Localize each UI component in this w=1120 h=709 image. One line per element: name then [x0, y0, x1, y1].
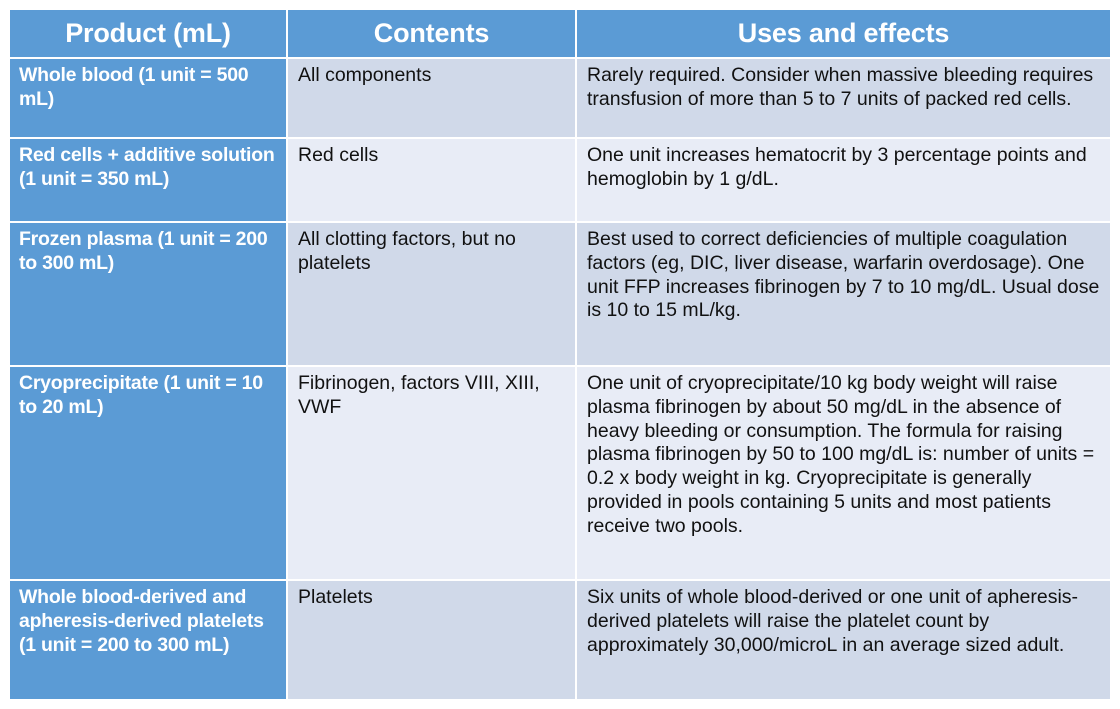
table-row: Whole blood (1 unit = 500 mL) All compon… — [10, 59, 1110, 139]
cell-contents: Fibrinogen, factors VIII, XIII, VWF — [288, 367, 577, 581]
uses-text: Best used to correct deficiencies of mul… — [587, 228, 1104, 323]
contents-text: Platelets — [298, 586, 568, 610]
uses-text: One unit increases hematocrit by 3 perce… — [587, 144, 1104, 192]
product-text: Whole blood (1 unit = 500 mL) — [19, 64, 282, 112]
product-text: Whole blood-derived and apheresis-derive… — [19, 586, 282, 657]
uses-text: One unit of cryoprecipitate/10 kg body w… — [587, 372, 1104, 538]
column-header-contents: Contents — [288, 10, 577, 59]
cell-contents: Red cells — [288, 139, 577, 223]
cell-uses: One unit of cryoprecipitate/10 kg body w… — [577, 367, 1110, 581]
cell-product: Red cells + additive solution (1 unit = … — [10, 139, 288, 223]
column-header-uses: Uses and effects — [577, 10, 1110, 59]
cell-contents: Platelets — [288, 581, 577, 699]
table-row: Red cells + additive solution (1 unit = … — [10, 139, 1110, 223]
cell-product: Cryoprecipitate (1 unit = 10 to 20 mL) — [10, 367, 288, 581]
contents-text: Fibrinogen, factors VIII, XIII, VWF — [298, 372, 568, 420]
table-row: Cryoprecipitate (1 unit = 10 to 20 mL) F… — [10, 367, 1110, 581]
table-row: Whole blood-derived and apheresis-derive… — [10, 581, 1110, 699]
cell-uses: Six units of whole blood-derived or one … — [577, 581, 1110, 699]
contents-text: Red cells — [298, 144, 568, 168]
contents-text: All components — [298, 64, 568, 88]
cell-uses: Rarely required. Consider when massive b… — [577, 59, 1110, 139]
cell-contents: All clotting factors, but no platelets — [288, 223, 577, 367]
blood-products-table: Product (mL) Contents Uses and effects W… — [10, 10, 1110, 699]
cell-product: Frozen plasma (1 unit = 200 to 300 mL) — [10, 223, 288, 367]
cell-contents: All components — [288, 59, 577, 139]
contents-text: All clotting factors, but no platelets — [298, 228, 568, 276]
cell-product: Whole blood-derived and apheresis-derive… — [10, 581, 288, 699]
uses-text: Rarely required. Consider when massive b… — [587, 64, 1104, 112]
uses-text: Six units of whole blood-derived or one … — [587, 586, 1104, 657]
cell-uses: Best used to correct deficiencies of mul… — [577, 223, 1110, 367]
column-header-product: Product (mL) — [10, 10, 288, 59]
product-text: Cryoprecipitate (1 unit = 10 to 20 mL) — [19, 372, 282, 420]
product-text: Red cells + additive solution (1 unit = … — [19, 144, 282, 192]
cell-product: Whole blood (1 unit = 500 mL) — [10, 59, 288, 139]
table-header: Product (mL) Contents Uses and effects — [10, 10, 1110, 59]
cell-uses: One unit increases hematocrit by 3 perce… — [577, 139, 1110, 223]
table-row: Frozen plasma (1 unit = 200 to 300 mL) A… — [10, 223, 1110, 367]
product-text: Frozen plasma (1 unit = 200 to 300 mL) — [19, 228, 282, 276]
table-body: Whole blood (1 unit = 500 mL) All compon… — [10, 59, 1110, 699]
blood-products-table-container: Product (mL) Contents Uses and effects W… — [10, 10, 1110, 699]
table-header-row: Product (mL) Contents Uses and effects — [10, 10, 1110, 59]
